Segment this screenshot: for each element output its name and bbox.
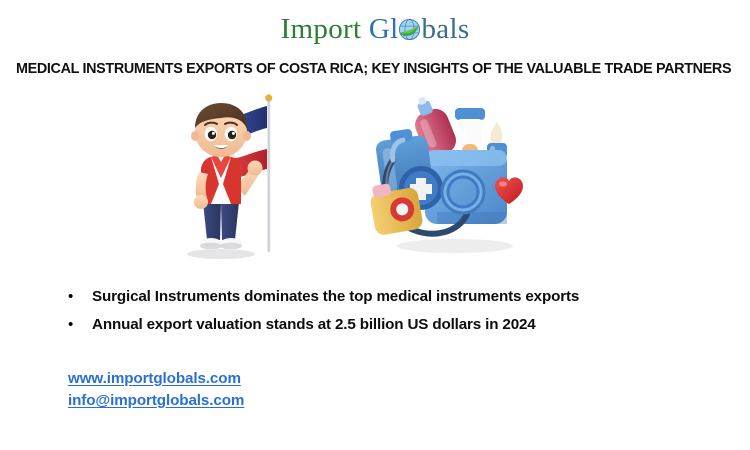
logo-word-import: Import <box>281 13 362 45</box>
brand-logo: Import Gl bals <box>0 12 750 52</box>
website-link[interactable]: www.importglobals.com <box>68 368 244 390</box>
boy-with-flag-illustration <box>163 92 303 262</box>
medical-instruments-illustration <box>363 94 543 256</box>
logo-text: Import Gl bals <box>281 12 470 46</box>
key-insights-list: • Surgical Instruments dominates the top… <box>68 286 728 342</box>
email-link[interactable]: info@importglobals.com <box>68 390 244 412</box>
page-title: MEDICAL INSTRUMENTS EXPORTS OF COSTA RIC… <box>16 59 727 79</box>
bullet-marker-icon: • <box>68 286 92 307</box>
list-item: • Surgical Instruments dominates the top… <box>68 286 728 307</box>
slide-canvas: Import Gl bals MEDICAL INSTRUMENTS EXPOR… <box>0 0 750 450</box>
bullet-marker-icon: • <box>68 314 92 335</box>
logo-word-bals: bals <box>421 13 469 45</box>
illustration-band <box>0 92 750 262</box>
list-item: • Annual export valuation stands at 2.5 … <box>68 314 728 335</box>
list-item-label: Surgical Instruments dominates the top m… <box>92 286 579 307</box>
globe-icon <box>398 15 421 38</box>
contact-links: www.importglobals.com info@importglobals… <box>68 368 244 412</box>
logo-word-gl: Gl <box>369 13 399 45</box>
list-item-label: Annual export valuation stands at 2.5 bi… <box>92 314 536 335</box>
